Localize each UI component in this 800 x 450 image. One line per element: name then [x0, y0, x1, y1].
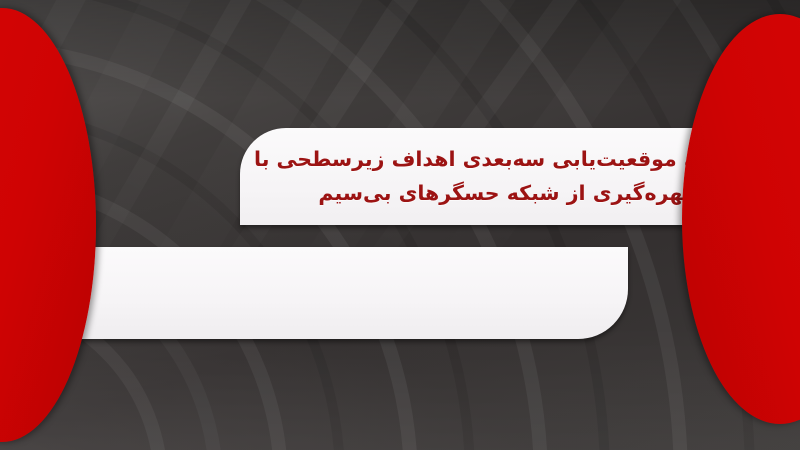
background-vignette	[0, 0, 800, 450]
title-slide: مدل‌سازی موقعیت‌یابی سه‌بعدی اهداف زیرسط…	[0, 0, 800, 450]
subtitle-placeholder[interactable]	[62, 247, 628, 339]
title-line-2: بهره‌گیری از شبکه حسگرهای بی‌سیم	[318, 177, 690, 210]
